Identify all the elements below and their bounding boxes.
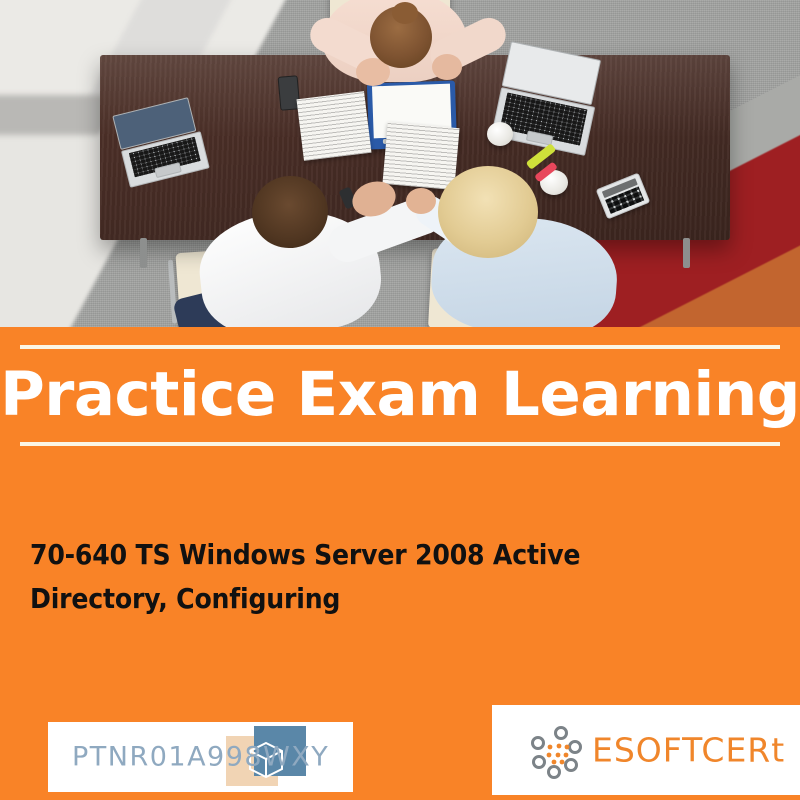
partner-code-text: PTNR01A998WXY — [72, 742, 329, 773]
person-hand — [406, 188, 436, 214]
table-leg — [683, 238, 690, 268]
hero-photo — [0, 0, 800, 327]
coffee-cup — [487, 122, 513, 146]
table-leg — [140, 238, 147, 268]
poster-root: Practice Exam Learning 70-640 TS Windows… — [0, 0, 800, 800]
page-title: Practice Exam Learning — [0, 353, 800, 437]
person-hair-bun — [392, 2, 418, 24]
esoftcert-dots-icon — [530, 721, 592, 779]
printed-document — [296, 91, 371, 161]
person-head — [438, 166, 538, 258]
esoftcert-wordmark: ESOFTCERt — [592, 731, 785, 770]
exam-subtitle: 70-640 TS Windows Server 2008 Active Dir… — [30, 533, 650, 621]
printed-document — [382, 122, 459, 190]
partner-logo-box: PTNR01A998WXY — [48, 722, 353, 792]
esoftcert-logo-box: ESOFTCERt — [492, 705, 800, 795]
person-hand — [432, 54, 462, 80]
divider-bottom — [20, 442, 780, 446]
divider-top — [20, 345, 780, 349]
